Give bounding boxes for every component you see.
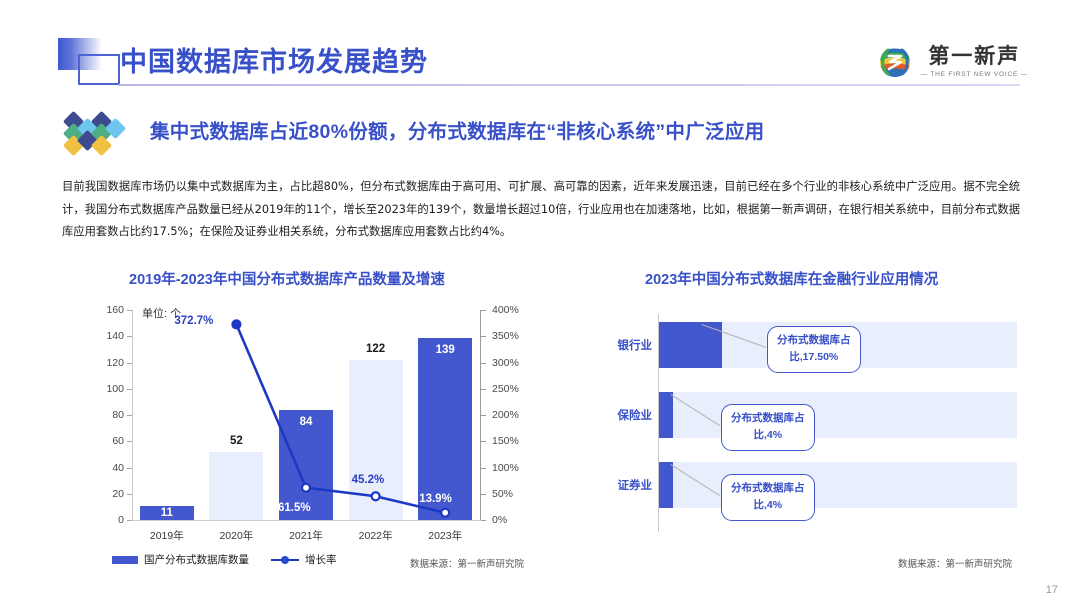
line-value-label: 45.2%	[352, 474, 385, 486]
secondary-axis-tick-label: 0%	[492, 514, 507, 526]
title-divider	[118, 84, 1020, 86]
logo-wordmark: 第一新声 — THE FIRST NEW VOICE —	[921, 46, 1028, 77]
callout-line-1: 分布式数据库占	[731, 480, 805, 497]
secondary-axis-tick-label: 400%	[492, 304, 519, 316]
y-axis-tick-mark	[127, 363, 132, 364]
brand-logo: 第一新声 — THE FIRST NEW VOICE —	[876, 40, 1028, 84]
callout-line-1: 分布式数据库占	[777, 332, 851, 349]
bar-value-label: 11	[140, 507, 194, 519]
secondary-axis-tick-mark	[481, 336, 486, 337]
bar-row	[659, 392, 1017, 438]
y-axis-tick-label: 40	[98, 462, 124, 474]
y-axis-tick-label: 0	[98, 514, 124, 526]
page-number: 17	[1046, 584, 1058, 596]
bar-row	[659, 462, 1017, 508]
y-axis-tick-label: 80	[98, 409, 124, 421]
globe-swirl-icon	[876, 43, 914, 81]
value-callout: 分布式数据库占比,17.50%	[767, 326, 861, 373]
bar: 11	[140, 506, 194, 520]
y-axis-tick-label: 120	[98, 357, 124, 369]
secondary-axis-tick-mark	[481, 389, 486, 390]
legend-item-bars: 国产分布式数据库数量	[112, 552, 249, 567]
y-axis-tick-mark	[127, 520, 132, 521]
legend-bar-label: 国产分布式数据库数量	[144, 552, 249, 567]
logo-name-cn: 第一新声	[928, 46, 1020, 68]
right-chart-title: 2023年中国分布式数据库在金融行业应用情况	[645, 268, 938, 289]
secondary-axis-tick-mark	[481, 363, 486, 364]
y-axis-tick-mark	[127, 310, 132, 311]
left-y-axis	[132, 310, 133, 520]
secondary-axis-tick-label: 150%	[492, 435, 519, 447]
secondary-axis-tick-mark	[481, 415, 486, 416]
header-decoration	[58, 38, 120, 86]
y-axis-tick-label: 60	[98, 435, 124, 447]
category-label: 银行业	[596, 337, 652, 353]
line-value-label: 372.7%	[174, 315, 213, 327]
left-chart-legend: 国产分布式数据库数量 增长率	[112, 552, 337, 567]
line-value-label: 13.9%	[419, 493, 452, 505]
y-axis-tick-mark	[127, 415, 132, 416]
value-callout: 分布式数据库占比,4%	[721, 474, 815, 521]
secondary-axis-tick-mark	[481, 441, 486, 442]
x-axis-tick-label: 2020年	[201, 528, 271, 543]
legend-bar-swatch	[112, 556, 138, 564]
callout-line-2: 比,4%	[731, 427, 805, 444]
right-chart-source: 数据来源：第一新声研究院	[898, 556, 1012, 570]
left-combo-chart: 单位: 个 020406080100120140160 0%50%100%150…	[70, 300, 560, 550]
category-label: 证券业	[596, 477, 652, 493]
y-axis-tick-mark	[127, 389, 132, 390]
line-value-label: 61.5%	[278, 502, 311, 514]
logo-name-en: — THE FIRST NEW VOICE —	[921, 71, 1028, 78]
legend-item-line: 增长率	[271, 552, 337, 567]
y-axis-tick-label: 20	[98, 488, 124, 500]
legend-line-swatch	[271, 555, 299, 565]
bar	[659, 392, 673, 438]
line-data-point	[232, 320, 240, 328]
body-paragraph: 目前我国数据库市场仍以集中式数据库为主，占比超80%，但分布式数据库由于高可用、…	[62, 176, 1020, 244]
secondary-axis-tick-mark	[481, 494, 486, 495]
secondary-axis-tick-label: 200%	[492, 409, 519, 421]
section-subtitle: 集中式数据库占近80%份额，分布式数据库在“非核心系统”中广泛应用	[150, 115, 764, 144]
diamond-ornament-icon	[64, 112, 142, 158]
bar-value-label: 122	[349, 343, 403, 355]
legend-line-label: 增长率	[305, 552, 337, 567]
decoration-outlined-square	[78, 54, 120, 85]
bar-track	[659, 392, 1017, 438]
secondary-axis-tick-label: 100%	[492, 462, 519, 474]
bar: 122	[349, 360, 403, 520]
right-horizontal-bar-chart: 银行业分布式数据库占比,17.50%保险业分布式数据库占比,4%证券业分布式数据…	[596, 300, 1026, 550]
category-label: 保险业	[596, 407, 652, 423]
x-axis-tick-label: 2019年	[132, 528, 202, 543]
y-axis-tick-mark	[127, 441, 132, 442]
secondary-axis-tick-label: 250%	[492, 383, 519, 395]
bar	[659, 462, 673, 508]
callout-line-2: 比,17.50%	[777, 349, 851, 366]
secondary-axis-tick-mark	[481, 310, 486, 311]
x-axis-tick-label: 2023年	[410, 528, 480, 543]
bar-value-label: 84	[279, 416, 333, 428]
y-axis-tick-label: 160	[98, 304, 124, 316]
y-axis-tick-mark	[127, 494, 132, 495]
y-axis-tick-label: 140	[98, 330, 124, 342]
secondary-axis-tick-label: 350%	[492, 330, 519, 342]
secondary-axis-tick-mark	[481, 468, 486, 469]
page-title: 中国数据库市场发展趋势	[120, 40, 428, 79]
y-axis-tick-mark	[127, 468, 132, 469]
secondary-axis-tick-label: 300%	[492, 357, 519, 369]
callout-line-1: 分布式数据库占	[731, 410, 805, 427]
x-axis-baseline	[132, 520, 481, 521]
callout-line-2: 比,4%	[731, 497, 805, 514]
page-header: 中国数据库市场发展趋势 第一新声	[0, 0, 1080, 95]
y-axis-tick-mark	[127, 336, 132, 337]
x-axis-tick-label: 2021年	[271, 528, 341, 543]
bar: 52	[209, 452, 263, 520]
bar-value-label: 52	[209, 435, 263, 447]
bar-value-label: 139	[418, 344, 472, 356]
secondary-axis-tick-mark	[481, 520, 486, 521]
y-axis-tick-label: 100	[98, 383, 124, 395]
bar-track	[659, 462, 1017, 508]
left-chart-source: 数据来源：第一新声研究院	[410, 556, 524, 570]
secondary-axis-tick-label: 50%	[492, 488, 513, 500]
line-path	[236, 324, 445, 512]
left-chart-title: 2019年-2023年中国分布式数据库产品数量及增速	[129, 268, 445, 289]
value-callout: 分布式数据库占比,4%	[721, 404, 815, 451]
x-axis-tick-label: 2022年	[341, 528, 411, 543]
